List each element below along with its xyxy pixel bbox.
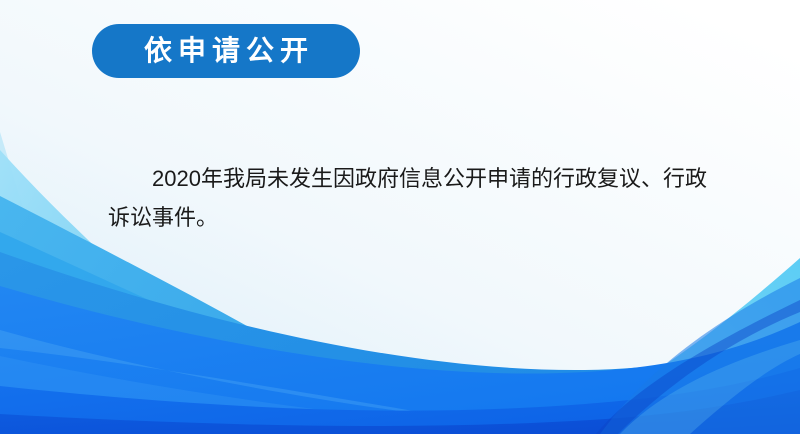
body-paragraph: 2020年我局未发生因政府信息公开申请的行政复议、行政诉讼事件。	[108, 159, 708, 237]
slide-canvas: 依申请公开 2020年我局未发生因政府信息公开申请的行政复议、行政诉讼事件。	[0, 0, 800, 434]
section-badge-label: 依申请公开	[138, 37, 314, 65]
section-badge: 依申请公开	[92, 24, 360, 78]
slide-content: 依申请公开 2020年我局未发生因政府信息公开申请的行政复议、行政诉讼事件。	[0, 0, 800, 434]
